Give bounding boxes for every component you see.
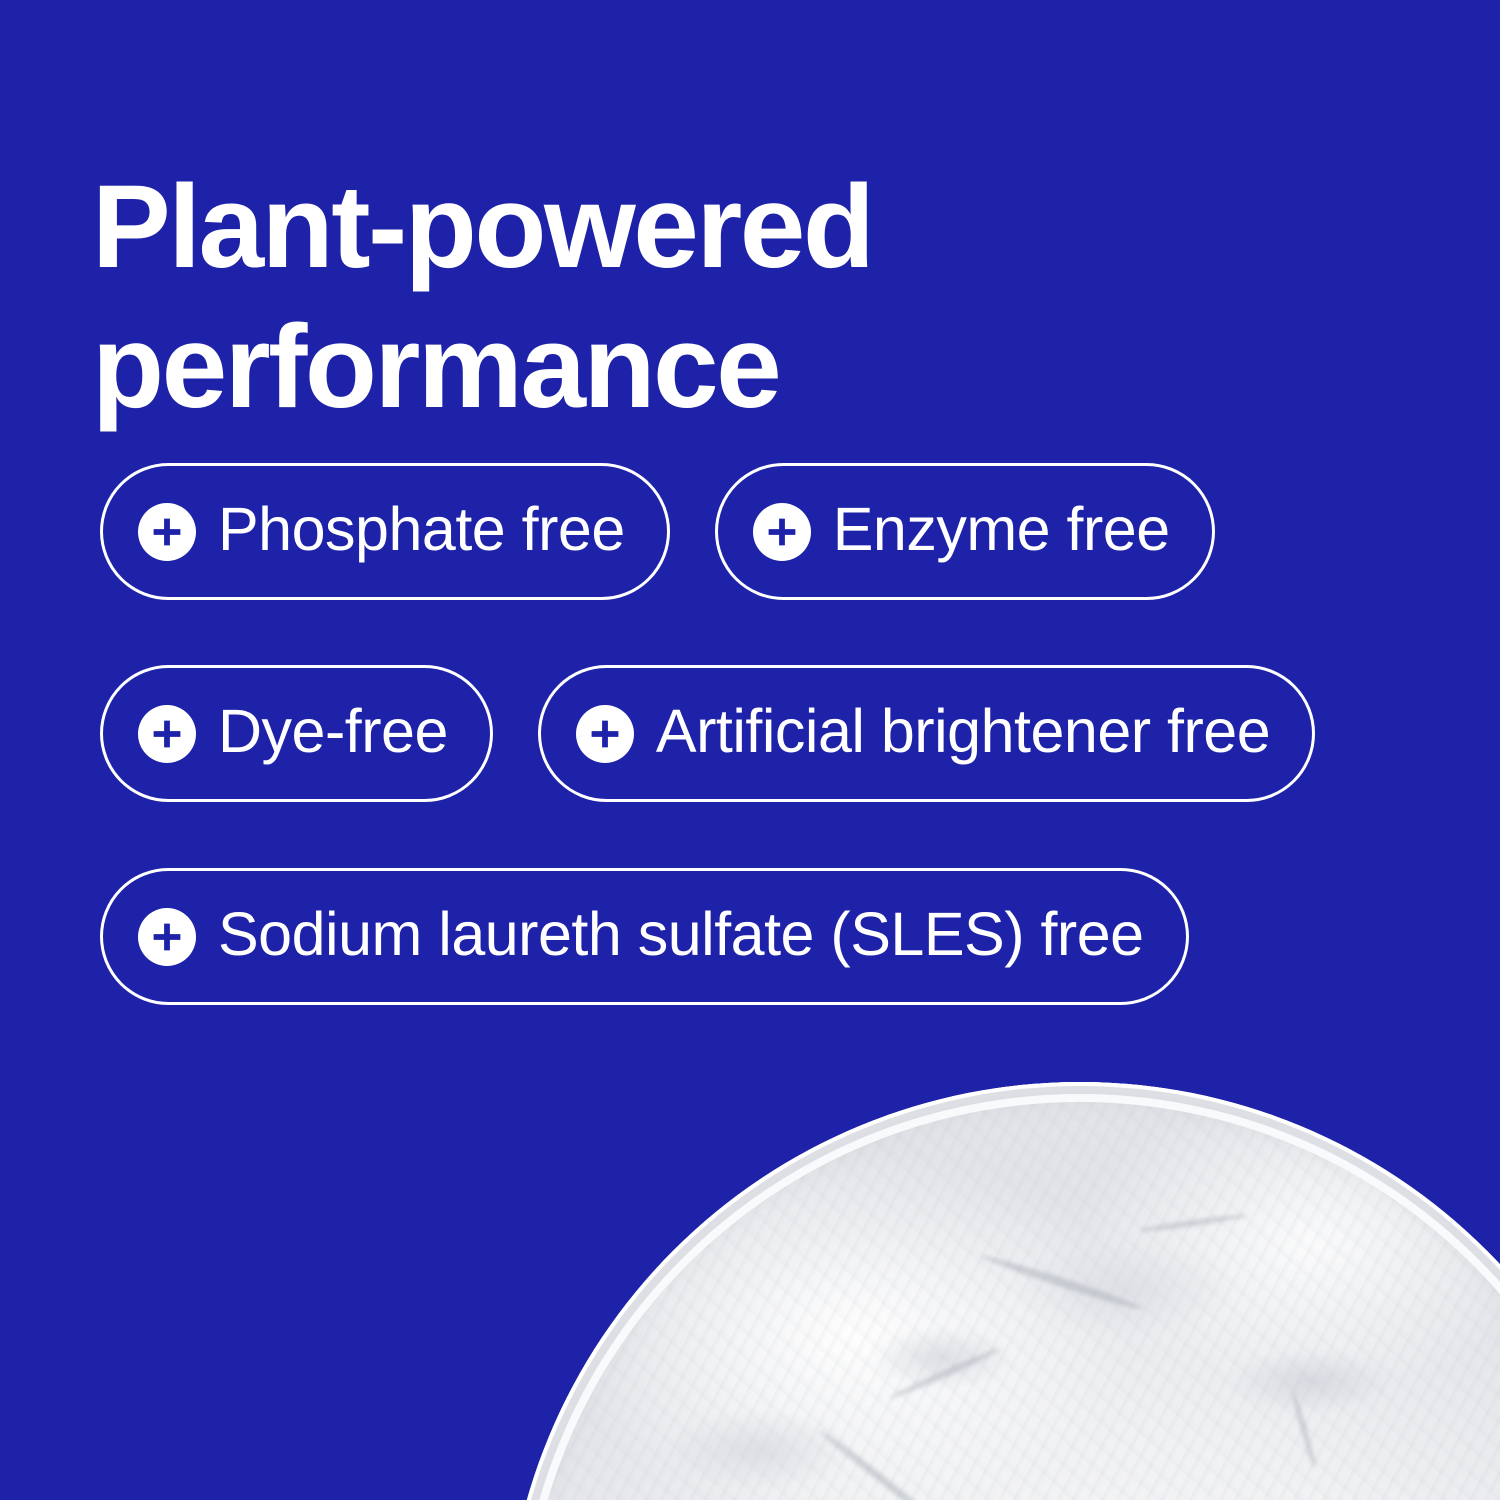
plus-icon (138, 503, 196, 561)
plus-icon (138, 705, 196, 763)
claim-pill-label: Dye-free (218, 701, 448, 762)
powder-surface-texture (505, 1082, 1500, 1500)
claim-row-1: Phosphate free Enzyme free (100, 463, 1215, 600)
page-title: Plant-powered performance (92, 157, 1192, 437)
claim-pill-enzyme-free[interactable]: Enzyme free (715, 463, 1215, 600)
powder-dish-rim (505, 1082, 1500, 1500)
product-feature-card: Plant-powered performance Phosphate free… (0, 0, 1500, 1500)
claim-pill-sles-free[interactable]: Sodium laureth sulfate (SLES) free (100, 868, 1189, 1005)
claim-pill-artificial-brightener-free[interactable]: Artificial brightener free (538, 665, 1315, 802)
detergent-powder-dish (0, 1070, 1500, 1500)
claim-pill-label: Enzyme free (833, 499, 1170, 560)
claim-row-3: Sodium laureth sulfate (SLES) free (100, 868, 1189, 1005)
powder-dish-body (505, 1082, 1500, 1500)
plus-icon (138, 908, 196, 966)
plus-icon (576, 705, 634, 763)
claim-pill-label: Phosphate free (218, 499, 625, 560)
claim-pill-label: Sodium laureth sulfate (SLES) free (218, 904, 1144, 965)
plus-icon (753, 503, 811, 561)
claim-pill-dye-free[interactable]: Dye-free (100, 665, 493, 802)
claim-row-2: Dye-free Artificial brightener free (100, 665, 1315, 802)
claim-pill-phosphate-free[interactable]: Phosphate free (100, 463, 670, 600)
claim-pill-label: Artificial brightener free (656, 701, 1270, 762)
